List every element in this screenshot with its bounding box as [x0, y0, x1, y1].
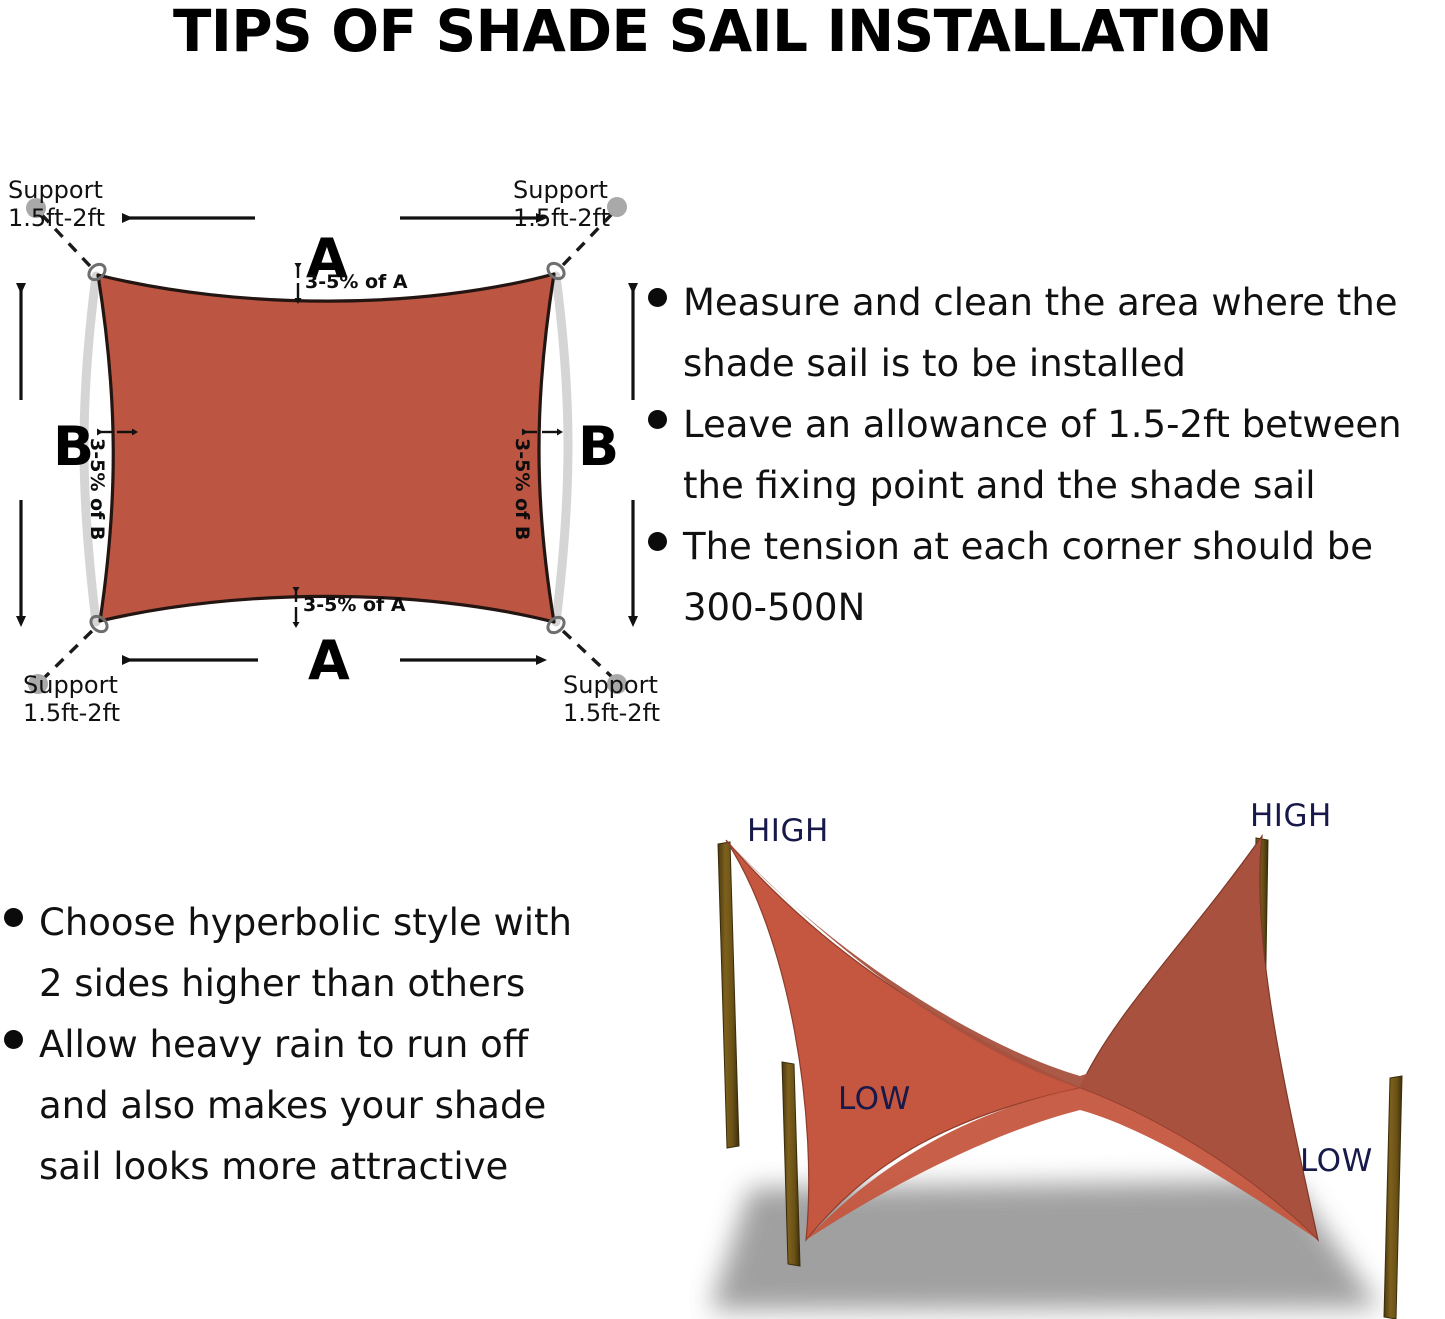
label-high-right: HIGH	[1250, 798, 1332, 834]
curvature-label-right: 3-5% of B	[511, 438, 533, 540]
pole-front-right	[1384, 1076, 1402, 1319]
tip-line: Choose hyperbolic style with	[39, 892, 572, 953]
bullet-dot-icon	[648, 288, 667, 307]
tip-line: the fixing point and the shade sail	[683, 455, 1402, 516]
label-low-right: LOW	[1300, 1143, 1373, 1179]
tip-line: Leave an allowance of 1.5-2ft between	[683, 394, 1402, 455]
bullet-dot-icon	[4, 1030, 23, 1049]
installation-tips-top-list: Measure and clean the area where the sha…	[648, 272, 1445, 638]
list-item: Measure and clean the area where the sha…	[648, 272, 1445, 394]
support-label-line1: Support	[8, 176, 103, 204]
bullet-dot-icon	[648, 532, 667, 551]
support-label-line1: Support	[513, 176, 608, 204]
tip-text: Choose hyperbolic style with 2 sides hig…	[39, 892, 572, 1014]
support-label-line1: Support	[23, 671, 118, 699]
list-item: Allow heavy rain to run off and also mak…	[4, 1014, 624, 1197]
support-label-line2: 1.5ft-2ft	[23, 699, 120, 727]
label-high-left: HIGH	[747, 813, 829, 849]
hyperbolic-sail-illustration: HIGH HIGH LOW LOW	[690, 788, 1445, 1319]
support-label-line1: Support	[563, 671, 658, 699]
tip-line: Allow heavy rain to run off	[39, 1014, 546, 1075]
dimension-letter-b-right: B	[578, 420, 619, 474]
curvature-label-left: 3-5% of B	[86, 438, 108, 540]
installation-tips-bottom-list: Choose hyperbolic style with 2 sides hig…	[4, 892, 624, 1197]
tip-line: shade sail is to be installed	[683, 333, 1398, 394]
tip-line: and also makes your shade	[39, 1075, 546, 1136]
tip-line: Measure and clean the area where the	[683, 272, 1398, 333]
pole-back-left	[718, 842, 739, 1148]
tip-text: Allow heavy rain to run off and also mak…	[39, 1014, 546, 1197]
sail-lobe-right	[1080, 836, 1318, 1240]
rect-sail-diagram: Support 1.5ft-2ft Support 1.5ft-2ft Supp…	[0, 150, 660, 730]
list-item: Leave an allowance of 1.5-2ft between th…	[648, 394, 1445, 516]
curvature-label-bottom: 3-5% of A	[303, 594, 406, 616]
shade-sail-shape	[98, 274, 554, 622]
tip-line: 300-500N	[683, 577, 1373, 638]
support-label-line2: 1.5ft-2ft	[513, 204, 610, 232]
bullet-dot-icon	[648, 410, 667, 429]
tip-text: The tension at each corner should be 300…	[683, 516, 1373, 638]
tip-text: Measure and clean the area where the sha…	[683, 272, 1398, 394]
support-label-line2: 1.5ft-2ft	[563, 699, 660, 727]
support-label-top-left: Support 1.5ft-2ft	[8, 176, 105, 232]
tip-text: Leave an allowance of 1.5-2ft between th…	[683, 394, 1402, 516]
support-label-bottom-left: Support 1.5ft-2ft	[23, 671, 120, 727]
tip-line: The tension at each corner should be	[683, 516, 1373, 577]
dimension-letter-a-bottom: A	[308, 634, 350, 688]
support-label-bottom-right: Support 1.5ft-2ft	[563, 671, 660, 727]
tip-line: 2 sides higher than others	[39, 953, 572, 1014]
curvature-label-top: 3-5% of A	[305, 271, 408, 293]
tip-line: sail looks more attractive	[39, 1136, 546, 1197]
hyperbolic-sail-drawing	[690, 788, 1445, 1319]
support-label-top-right: Support 1.5ft-2ft	[513, 176, 610, 232]
bullet-dot-icon	[4, 908, 23, 927]
support-label-line2: 1.5ft-2ft	[8, 204, 105, 232]
list-item: The tension at each corner should be 300…	[648, 516, 1445, 638]
label-low-left: LOW	[838, 1081, 911, 1117]
page-title: TIPS OF SHADE SAIL INSTALLATION	[22, 0, 1424, 62]
list-item: Choose hyperbolic style with 2 sides hig…	[4, 892, 624, 1014]
